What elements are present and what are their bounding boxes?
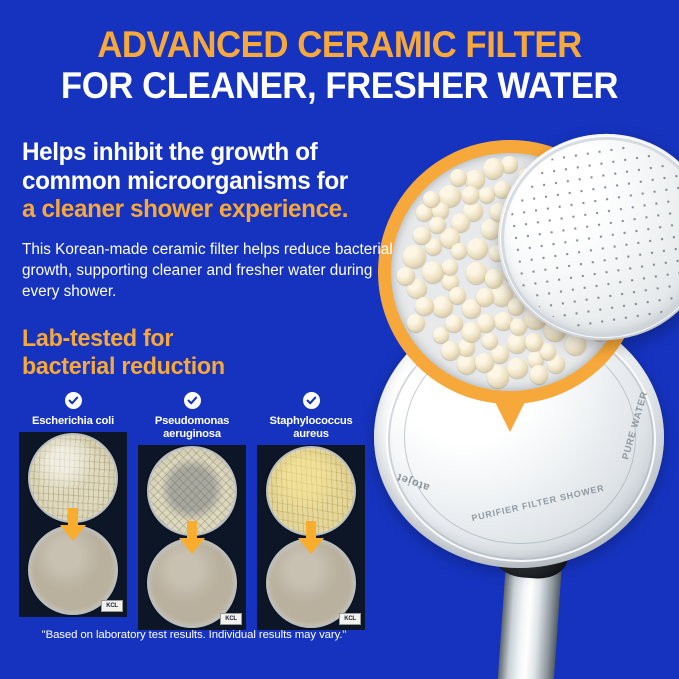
ceramic-bead [458,339,475,356]
species-name: Staphylococcus aureus [257,415,365,441]
ceramic-bead [450,169,467,186]
species-name-line-2: aeruginosa [138,428,246,441]
species-name-line-1: Pseudomonas [138,415,246,428]
ceramic-bead [510,318,527,335]
lab-tag: KCL [220,613,242,625]
down-arrow-icon [296,521,326,555]
check-circle-icon [184,392,201,409]
ceramic-bead [462,186,479,203]
ceramic-bead [413,227,431,245]
ceramic-bead [466,262,487,283]
check-wrap [19,392,127,412]
ceramic-bead [540,343,556,359]
check-wrap [138,392,246,412]
species-name-line-1: Staphylococcus [257,415,365,428]
bacteria-test-grid: Escherichia coli KCL [19,392,365,630]
lab-tested-heading: Lab-tested for bacterial reduction [22,325,352,381]
headline-line-2: FOR CLEANER, FRESHER WATER [20,67,658,105]
ceramic-bead [442,259,458,275]
species-name-line-2: aureus [257,428,365,441]
ceramic-bead [441,341,460,360]
test-column-escherichia-coli: Escherichia coli KCL [19,392,127,630]
lab-heading-line-2: bacterial reduction [22,353,342,381]
test-column-staphylococcus-aureus: Staphylococcus aureus KCL [257,392,365,630]
ceramic-bead [397,267,415,285]
marketing-banner: PURIFIER FILTER SHOWER PURE WATER atojet… [0,0,679,679]
ceramic-bead [475,353,494,372]
lab-tag: KCL [101,600,123,612]
ceramic-bead [482,333,498,349]
down-arrow-icon [177,521,207,555]
ceramic-bead [457,354,477,374]
petri-dish-stack: KCL [19,432,127,617]
magnifier-pointer [488,388,532,432]
headline-line-1: ADVANCED CERAMIC FILTER [20,26,658,64]
subheadline-line-3-accent: a cleaner shower experience. [22,195,429,224]
body-copy: This Korean-made ceramic filter helps re… [22,239,394,302]
ceramic-bead [530,365,549,384]
petri-dish-stack: KCL [138,445,246,630]
test-column-pseudomonas-aeruginosa: Pseudomonas aeruginosa KCL [138,392,246,630]
down-arrow-icon [58,508,88,542]
subheadline-line-1: Helps inhibit the growth of [22,138,429,167]
species-name: Pseudomonas aeruginosa [138,415,246,441]
headline: ADVANCED CERAMIC FILTER FOR CLEANER, FRE… [0,26,679,104]
disclaimer-text: "Based on laboratory test results. Indiv… [19,629,369,641]
ceramic-bead [407,314,425,332]
ceramic-bead [507,358,528,379]
petri-dish-stack: KCL [257,445,365,630]
check-circle-icon [303,392,320,409]
ceramic-bead [467,238,488,259]
check-wrap [257,392,365,412]
ceramic-bead [449,287,466,304]
ceramic-bead [485,269,504,288]
lab-tag: KCL [339,613,361,625]
ceramic-bead [422,261,444,283]
ceramic-bead [462,322,481,341]
ceramic-bead [476,288,494,306]
subheadline-line-2: common microorganisms for [22,167,429,196]
lab-heading-line-1: Lab-tested for [22,325,342,353]
ceramic-bead [525,333,543,351]
ceramic-bead [445,315,462,332]
subheadline: Helps inhibit the growth of common micro… [22,138,442,224]
ceramic-bead [483,158,504,179]
ceramic-bead [415,297,433,315]
ceramic-bead [403,245,425,267]
species-name: Escherichia coli [19,415,127,428]
ceramic-bead [479,187,495,203]
body-paragraph: This Korean-made ceramic filter helps re… [22,239,394,302]
check-circle-icon [65,392,82,409]
ceramic-bead [451,243,467,259]
